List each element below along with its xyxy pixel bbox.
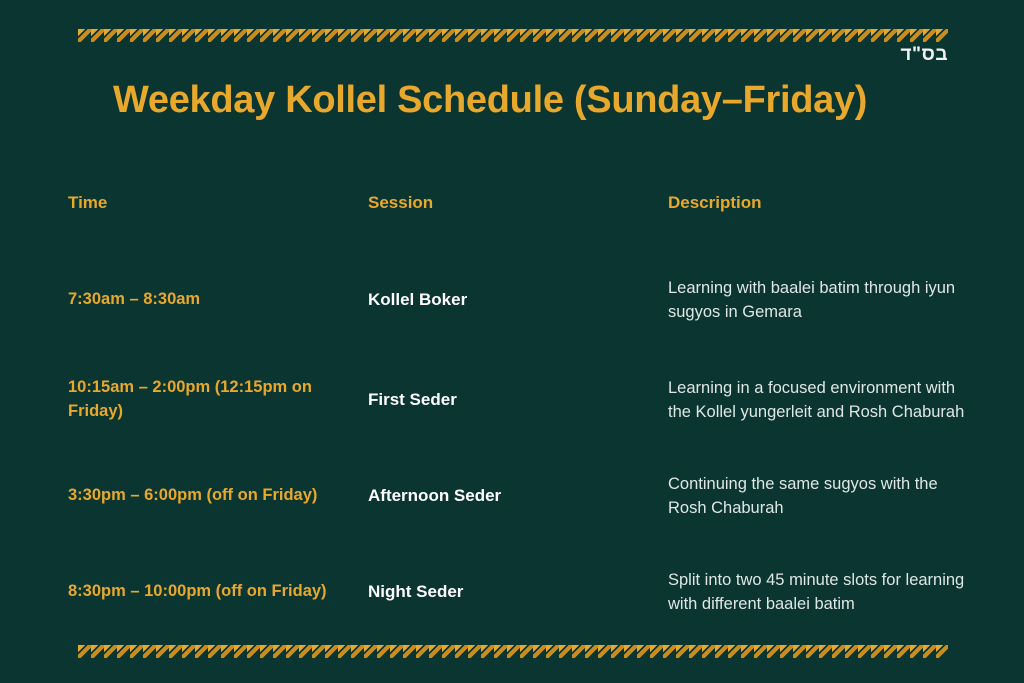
cell-time: 8:30pm – 10:00pm (off on Friday) [68, 580, 368, 604]
cell-time: 3:30pm – 6:00pm (off on Friday) [68, 484, 368, 508]
cell-description: Split into two 45 minute slots for learn… [668, 568, 968, 617]
page-title: Weekday Kollel Schedule (Sunday–Friday) [113, 79, 933, 123]
cell-session: Afternoon Seder [368, 484, 668, 508]
cell-description: Learning with baalei batim through iyun … [668, 276, 968, 325]
column-header-time: Time [68, 192, 368, 214]
cell-description: Continuing the same sugyos with the Rosh… [668, 472, 968, 521]
table-row: 8:30pm – 10:00pm (off on Friday) Night S… [68, 548, 968, 636]
table-row: 10:15am – 2:00pm (12:15pm on Friday) Fir… [68, 356, 968, 444]
chevron-pattern-strip [78, 645, 948, 658]
kollel-schedule-page: { "colors": { "background": "#0b3531", "… [0, 0, 1024, 683]
chevron-pattern-strip [78, 29, 948, 42]
column-header-description: Description [668, 192, 968, 214]
bottom-chevron-border-icon [78, 645, 948, 658]
bsd-mark: בס"ד [901, 44, 949, 66]
cell-description: Learning in a focused environment with t… [668, 376, 968, 425]
top-chevron-border-icon [78, 29, 948, 42]
cell-session: Night Seder [368, 580, 668, 604]
table-row: 3:30pm – 6:00pm (off on Friday) Afternoo… [68, 452, 968, 540]
table-row: 7:30am – 8:30am Kollel Boker Learning wi… [68, 256, 968, 344]
schedule-table: Time Session Description 7:30am – 8:30am… [68, 192, 968, 636]
table-header-row: Time Session Description [68, 192, 968, 214]
column-header-session: Session [368, 192, 668, 214]
cell-time: 7:30am – 8:30am [68, 288, 368, 312]
cell-time: 10:15am – 2:00pm (12:15pm on Friday) [68, 376, 368, 424]
cell-session: Kollel Boker [368, 288, 668, 312]
cell-session: First Seder [368, 388, 668, 412]
